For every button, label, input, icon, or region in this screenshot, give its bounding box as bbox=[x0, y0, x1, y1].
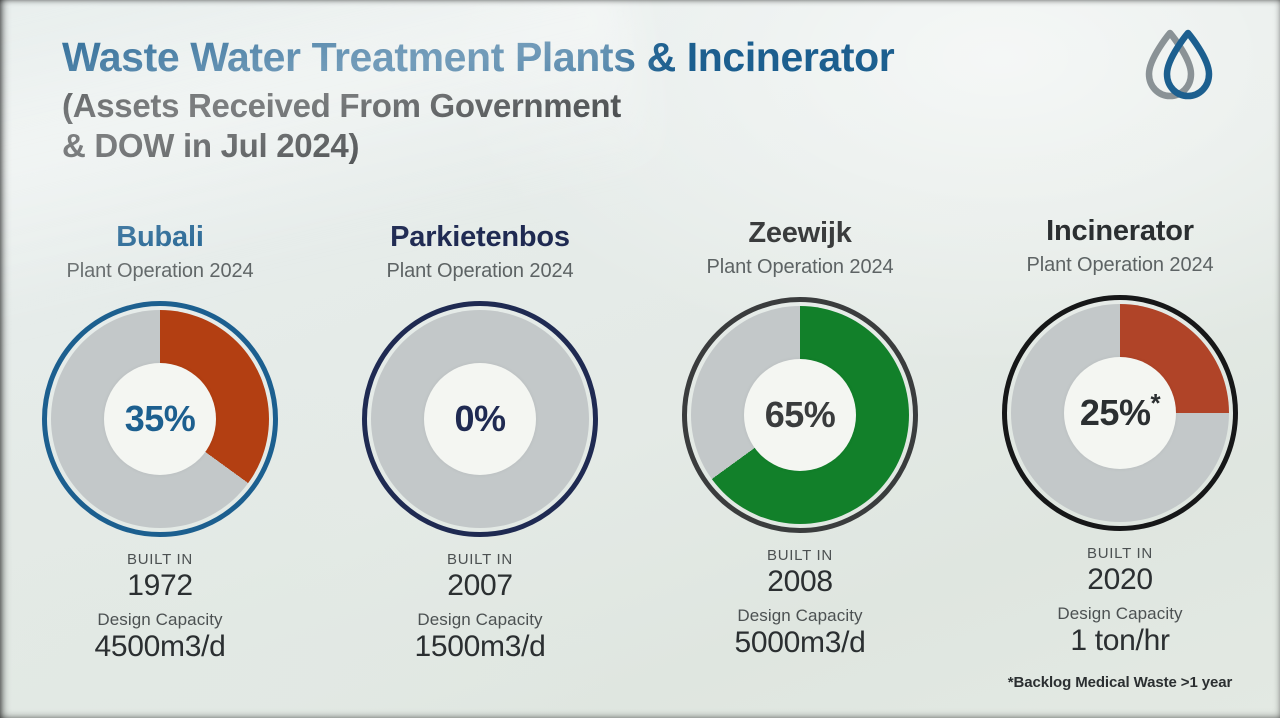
plant-title-parkietenbos: Parkietenbos bbox=[390, 222, 570, 252]
capacity-value-incinerator: 1 ton/hr bbox=[1008, 624, 1232, 658]
donut-percent-label-parkietenbos: 0% bbox=[454, 401, 505, 437]
donut-chart-zeewijk: 65% bbox=[682, 297, 918, 533]
donut-percent-value-incinerator: 25% bbox=[1080, 392, 1151, 433]
footnote-incinerator: *Backlog Medical Waste >1 year bbox=[1008, 674, 1232, 691]
plant-stats-bubali: BUILT IN1972Design Capacity4500m3/d bbox=[94, 551, 225, 664]
donut-percent-value-parkietenbos: 0% bbox=[454, 398, 505, 439]
plant-card-parkietenbos: ParkietenbosPlant Operation 20240%BUILT … bbox=[320, 222, 640, 691]
plant-stats-zeewijk: BUILT IN2008Design Capacity5000m3/d bbox=[734, 547, 865, 660]
plant-cards-row: BubaliPlant Operation 202435%BUILT IN197… bbox=[0, 222, 1280, 691]
plant-title-zeewijk: Zeewijk bbox=[748, 218, 851, 248]
capacity-value-parkietenbos: 1500m3/d bbox=[414, 630, 545, 664]
slide-header: Waste Water Treatment Plants & Incinerat… bbox=[62, 36, 894, 166]
donut-center-zeewijk: 65% bbox=[744, 359, 856, 471]
donut-percent-label-bubali: 35% bbox=[125, 401, 196, 437]
donut-center-bubali: 35% bbox=[104, 363, 216, 475]
capacity-label-zeewijk: Design Capacity bbox=[734, 606, 865, 626]
plant-card-zeewijk: ZeewijkPlant Operation 202465%BUILT IN20… bbox=[640, 218, 960, 691]
donut-center-incinerator: 25%* bbox=[1064, 357, 1176, 469]
plant-card-incinerator: IncineratorPlant Operation 202425%*BUILT… bbox=[960, 216, 1280, 691]
donut-chart-incinerator: 25%* bbox=[1002, 295, 1238, 531]
page-title: Waste Water Treatment Plants & Incinerat… bbox=[62, 36, 894, 80]
water-droplet-logo bbox=[1140, 26, 1218, 110]
built-in-label-zeewijk: BUILT IN bbox=[734, 547, 865, 565]
built-in-label-parkietenbos: BUILT IN bbox=[414, 551, 545, 569]
donut-chart-parkietenbos: 0% bbox=[362, 301, 598, 537]
donut-percent-label-zeewijk: 65% bbox=[765, 397, 836, 433]
built-in-value-bubali: 1972 bbox=[94, 569, 225, 603]
plant-title-bubali: Bubali bbox=[116, 222, 203, 252]
plant-subtitle-zeewijk: Plant Operation 2024 bbox=[706, 256, 893, 279]
plant-title-incinerator: Incinerator bbox=[1046, 216, 1194, 246]
built-in-value-parkietenbos: 2007 bbox=[414, 569, 545, 603]
capacity-value-zeewijk: 5000m3/d bbox=[734, 626, 865, 660]
donut-percent-value-bubali: 35% bbox=[125, 398, 196, 439]
capacity-label-bubali: Design Capacity bbox=[94, 610, 225, 630]
plant-subtitle-incinerator: Plant Operation 2024 bbox=[1026, 254, 1213, 277]
donut-percent-asterisk-incinerator: * bbox=[1150, 388, 1160, 418]
page-subtitle-line-1: (Assets Received From Government bbox=[62, 86, 894, 126]
capacity-value-bubali: 4500m3/d bbox=[94, 630, 225, 664]
plant-stats-parkietenbos: BUILT IN2007Design Capacity1500m3/d bbox=[414, 551, 545, 664]
built-in-value-incinerator: 2020 bbox=[1008, 563, 1232, 597]
capacity-label-incinerator: Design Capacity bbox=[1008, 604, 1232, 624]
plant-subtitle-bubali: Plant Operation 2024 bbox=[66, 260, 253, 283]
plant-subtitle-parkietenbos: Plant Operation 2024 bbox=[386, 260, 573, 283]
built-in-value-zeewijk: 2008 bbox=[734, 565, 865, 599]
plant-card-bubali: BubaliPlant Operation 202435%BUILT IN197… bbox=[0, 222, 320, 691]
donut-percent-label-incinerator: 25%* bbox=[1080, 395, 1160, 431]
built-in-label-incinerator: BUILT IN bbox=[1008, 545, 1232, 563]
plant-stats-incinerator: BUILT IN2020Design Capacity1 ton/hr*Back… bbox=[1008, 545, 1232, 691]
capacity-label-parkietenbos: Design Capacity bbox=[414, 610, 545, 630]
built-in-label-bubali: BUILT IN bbox=[94, 551, 225, 569]
slide-canvas: Waste Water Treatment Plants & Incinerat… bbox=[0, 0, 1280, 718]
donut-percent-value-zeewijk: 65% bbox=[765, 394, 836, 435]
donut-chart-bubali: 35% bbox=[42, 301, 278, 537]
donut-center-parkietenbos: 0% bbox=[424, 363, 536, 475]
page-subtitle-line-2: & DOW in Jul 2024) bbox=[62, 126, 894, 166]
